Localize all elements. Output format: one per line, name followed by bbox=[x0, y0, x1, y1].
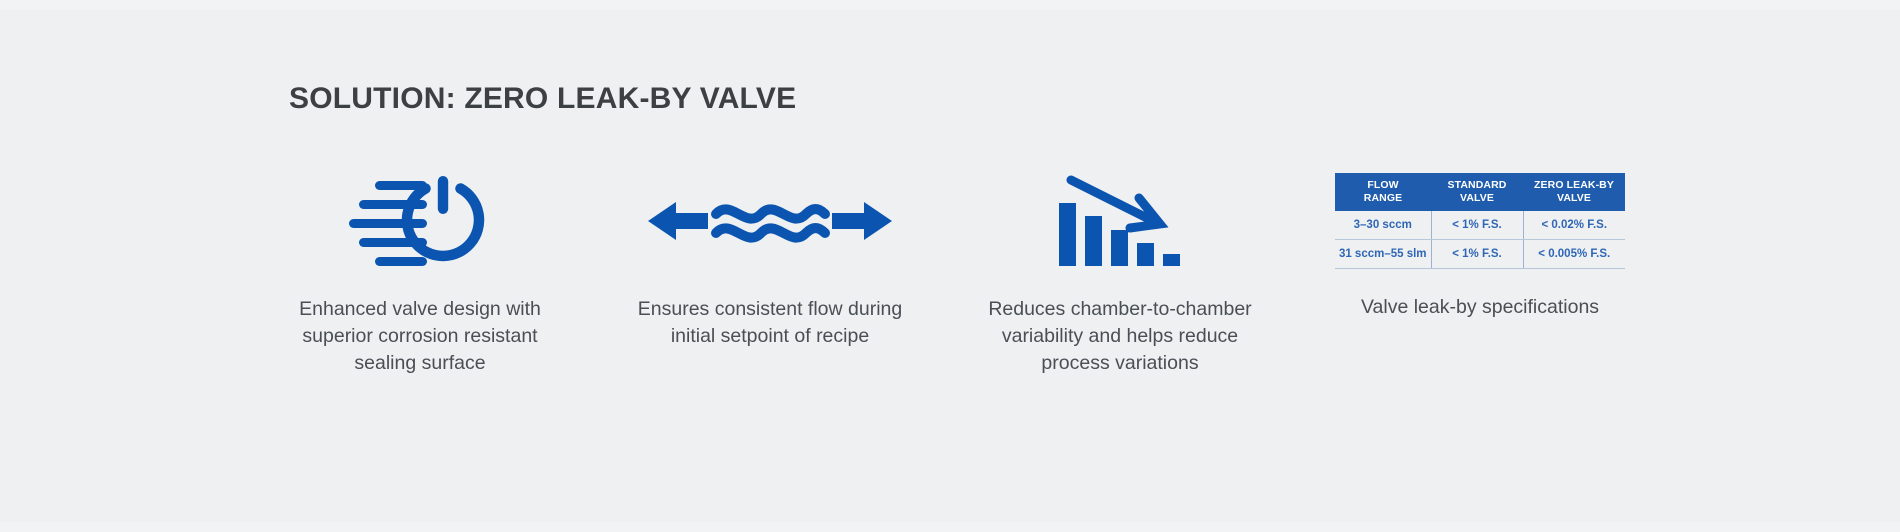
header-line: VALVE bbox=[1557, 192, 1591, 204]
spec-table-caption: Valve leak-by specifications bbox=[1361, 296, 1599, 319]
table-header-row: FLOW RANGE STANDARD VALVE ZERO LEAK-BY V… bbox=[1335, 173, 1625, 210]
cell-flow-range: 31 sccm–55 slm bbox=[1335, 239, 1431, 268]
feature-caption-2: Ensures consistent flow during initial s… bbox=[615, 296, 925, 350]
bidirectional-wave-flow-icon bbox=[646, 160, 894, 282]
feature-item-3: Reduces chamber-to-chamber variability a… bbox=[940, 160, 1300, 377]
cell-zero-leakby-valve: < 0.005% F.S. bbox=[1523, 239, 1625, 268]
header-line: ZERO LEAK-BY bbox=[1534, 179, 1614, 191]
feature-columns: Enhanced valve design with superior corr… bbox=[240, 160, 1660, 377]
cell-standard-valve: < 1% F.S. bbox=[1431, 211, 1523, 240]
bottom-edge-band bbox=[0, 522, 1900, 532]
table-row: 3–30 sccm < 1% F.S. < 0.02% F.S. bbox=[1335, 211, 1625, 240]
cell-standard-valve: < 1% F.S. bbox=[1431, 239, 1523, 268]
cell-flow-range: 3–30 sccm bbox=[1335, 211, 1431, 240]
table-header-zero-leakby-valve: ZERO LEAK-BY VALVE bbox=[1523, 173, 1625, 210]
spec-table-wrapper: FLOW RANGE STANDARD VALVE ZERO LEAK-BY V… bbox=[1335, 160, 1625, 282]
top-edge-band bbox=[0, 0, 1900, 10]
feature-item-2: Ensures consistent flow during initial s… bbox=[600, 160, 940, 350]
header-line: FLOW bbox=[1367, 179, 1398, 191]
spec-table-item: FLOW RANGE STANDARD VALVE ZERO LEAK-BY V… bbox=[1300, 160, 1660, 319]
table-header-flow-range: FLOW RANGE bbox=[1335, 173, 1431, 210]
declining-bar-chart-arrow-icon bbox=[1057, 160, 1183, 282]
header-line: RANGE bbox=[1364, 192, 1402, 204]
header-line: STANDARD bbox=[1448, 179, 1507, 191]
feature-item-1: Enhanced valve design with superior corr… bbox=[240, 160, 600, 377]
feature-caption-1: Enhanced valve design with superior corr… bbox=[270, 296, 570, 377]
valve-leakby-spec-table: FLOW RANGE STANDARD VALVE ZERO LEAK-BY V… bbox=[1335, 173, 1625, 268]
power-button-speed-lines-icon bbox=[347, 160, 493, 282]
table-row: 31 sccm–55 slm < 1% F.S. < 0.005% F.S. bbox=[1335, 239, 1625, 268]
slide-canvas: SOLUTION: ZERO LEAK-BY VALVE bbox=[0, 0, 1900, 532]
page-title: SOLUTION: ZERO LEAK-BY VALVE bbox=[289, 82, 796, 116]
cell-zero-leakby-valve: < 0.02% F.S. bbox=[1523, 211, 1625, 240]
header-line: VALVE bbox=[1460, 192, 1494, 204]
feature-caption-3: Reduces chamber-to-chamber variability a… bbox=[970, 296, 1270, 377]
table-header-standard-valve: STANDARD VALVE bbox=[1431, 173, 1523, 210]
